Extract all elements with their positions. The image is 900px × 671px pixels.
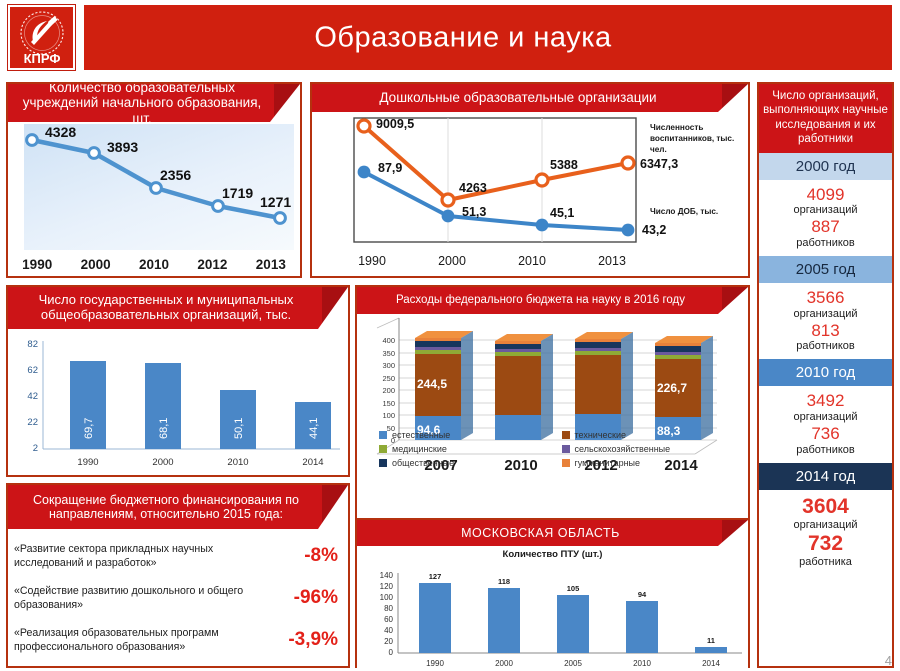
x-tick: 2014 [302,457,323,468]
orgs-count: 3604 [759,495,892,519]
legend-item-medical: медицинские [379,442,562,456]
y-tick: 400 [382,336,395,345]
slide-title-banner: Образование и наука [84,5,892,70]
panel-moscow-region: МОСКОВСКАЯ ОБЛАСТЬ Количество ПТУ (шт.) … [355,518,750,668]
legend-label: естественные [392,430,450,440]
y-tick: 200 [382,386,395,395]
x-tick: 2000 [495,659,513,668]
primary-education-chart: 4328 3893 2356 1719 1271 1990 2000 2010 … [8,122,300,276]
x-tick: 1990 [332,254,412,272]
science-budget-chart: 0 50 100 150 200 250 300 350 400 [357,314,748,474]
preschool-chart: 9009,5 4263 5388 6347,3 87,9 51,3 45,1 4… [312,112,748,276]
y-tick: 0 [389,648,394,657]
seg-medical [655,355,701,359]
workers-count: 813 [759,321,892,341]
year-stats: 3604 организаций 732 работника [759,490,892,576]
stack-side-face [621,332,633,440]
plot-frame [354,118,636,242]
bar-value-labels: 69,7 68,1 50,1 44,1 [83,418,320,439]
annotation-pupils: Численность воспитанников, тыс. чел. [650,122,745,155]
year-block-2014: 2014 год 3604 организаций 732 работника [759,463,892,576]
data-label: 94 [638,590,647,599]
legend-swatch-icon [562,459,570,467]
stack-side-face [541,334,553,440]
list-item: «Реализация образовательных программ про… [14,619,344,661]
bar [626,601,658,653]
seg-social [415,341,461,347]
seg-medical [495,352,541,356]
y-tick: 300 [382,361,395,370]
orgs-label: организаций [759,308,892,321]
panel-preschool-title: Дошкольные образовательные организации [369,90,690,106]
science-budget-legend: естественные технические медицинские сел… [379,428,744,472]
x-tick: 2010 [633,659,651,668]
year-block-2010: 2010 год 3492 организаций 736 работников [759,359,892,462]
workers-label: работника [759,556,892,569]
legend-label: медицинские [392,444,447,454]
seg-social [575,342,621,348]
y-tick: 62 [27,365,38,376]
data-label: 43,2 [642,223,666,237]
data-label: 1719 [222,185,253,201]
panel-general-title: Число государственных и муниципальных об… [8,293,348,323]
workers-label: работников [759,340,892,353]
panel-moscow-title: МОСКОВСКАЯ ОБЛАСТЬ [451,526,654,540]
legend-item-technical: технические [562,428,745,442]
panel-primary-title: Количество образовательных учреждений на… [8,84,300,122]
legend-swatch-icon [379,459,387,467]
panel-science-banner: Расходы федерального бюджета на науку в … [357,287,748,314]
legend-swatch-icon [562,445,570,453]
year-stats: 3566 организаций 813 работников [759,283,892,359]
data-label: 4328 [45,124,76,140]
y-tick: 20 [384,637,393,646]
seg-humanities [655,343,701,346]
legend-swatch-icon [379,445,387,453]
moscow-ptu-chart: 0 20 40 60 80 100 120 140 [357,561,748,671]
data-label: 87,9 [378,161,402,175]
seg-medical [415,350,461,354]
data-label: 9009,5 [376,117,414,131]
seg-agri [415,347,461,350]
bar [557,595,589,653]
seg-agri [655,352,701,355]
sidebar-research-orgs: Число организаций, выполняющих научные и… [757,82,894,668]
bar [695,647,727,653]
x-axis-ticks: 1990 2000 2010 2014 [77,457,323,468]
y-tick: 22 [27,417,38,428]
legend-item-natural: естественные [379,428,562,442]
workers-label: работников [759,237,892,250]
y-tick: 150 [382,399,395,408]
orgs-label: организаций [759,411,892,424]
list-item: «Содействие развитию дошкольного и общег… [14,577,344,619]
orgs-count: 3566 [759,288,892,308]
panel-general-education: Число государственных и муниципальных об… [6,285,350,477]
series-line [32,140,280,218]
y-tick: 250 [382,374,395,383]
seg-humanities [575,339,621,342]
data-label: 44,1 [308,418,320,439]
panel-budget-cuts: Сокращение бюджетного финансирования по … [6,483,350,668]
data-label: 2356 [160,167,191,183]
data-label: 3893 [107,139,138,155]
data-label: 51,3 [462,205,486,219]
year-stats: 3492 организаций 736 работников [759,386,892,462]
data-label: 1271 [260,194,291,210]
x-tick: 1990 [77,457,98,468]
x-tick: 2000 [152,457,173,468]
general-education-chart: 2 22 42 62 82 69,7 68,1 50,1 [8,329,348,475]
bars [70,361,331,449]
x-tick: 2010 [492,254,572,272]
header-bar: КПРФ Образование и наука [0,0,900,74]
y-tick: 140 [380,571,394,580]
workers-count: 732 [759,532,892,556]
orgs-label: организаций [759,204,892,217]
y-tick: 2 [33,443,38,454]
y-tick: 350 [382,349,395,358]
seg-humanities [415,338,461,341]
legend-label: общественные [392,458,454,468]
seg-social [495,344,541,349]
bars [419,583,727,653]
legend-item-social: общественные [379,456,562,470]
y-tick: 40 [384,626,393,635]
seg-social [655,346,701,352]
primary-education-line-svg: 4328 3893 2356 1719 1271 [8,122,300,250]
data-label: 105 [567,584,580,593]
y-axis-ticks: 0 20 40 60 80 100 120 140 [380,571,394,657]
orgs-label: организаций [759,519,892,532]
year-block-2000: 2000 год 4099 организаций 887 работников [759,153,892,256]
data-label: 69,7 [83,418,95,439]
legend-swatch-icon [379,431,387,439]
list-item: «Развитие сектора прикладных научных исс… [14,535,344,577]
panel-primary-education: Количество образовательных учреждений на… [6,82,302,278]
panel-moscow-banner: МОСКОВСКАЯ ОБЛАСТЬ [357,520,748,546]
legend-label: гумманитарные [575,458,641,468]
panel-primary-banner: Количество образовательных учреждений на… [8,84,300,122]
workers-count: 887 [759,217,892,237]
data-label: 5388 [550,158,578,172]
y-tick: 42 [27,391,38,402]
y-tick: 120 [380,582,394,591]
y-tick: 100 [380,593,394,602]
x-tick: 2005 [564,659,582,668]
stack-2012 [575,332,633,440]
x-tick: 2010 [125,257,183,272]
x-tick: 2012 [183,257,241,272]
stack-side-face [461,331,473,440]
bar [419,583,451,653]
bar [488,588,520,653]
kprf-logo: КПРФ [8,5,75,70]
x-tick: 2014 [702,659,720,668]
stack-side-face [701,336,713,440]
orgs-count: 4099 [759,185,892,205]
data-label: 4263 [459,181,487,195]
data-label: 127 [429,572,442,581]
panel-science-budget: Расходы федерального бюджета на науку в … [355,285,750,520]
cut-percent-value: -96% [270,587,344,609]
page-title: Образование и наука [84,21,892,54]
data-label: 244,5 [417,377,447,391]
cut-percent-value: -3,9% [270,629,344,651]
year-stats: 4099 организаций 887 работников [759,180,892,256]
slide-root: КПРФ Образование и наука Количество обра… [0,0,900,671]
data-label: 118 [498,577,510,586]
year-label: 2010 год [759,359,892,386]
x-tick: 1990 [8,257,66,272]
workers-count: 736 [759,424,892,444]
y-tick: 82 [27,339,38,350]
legend-item-humanities: гумманитарные [562,456,745,470]
data-label: 68,1 [158,418,170,439]
data-label: 6347,3 [640,157,678,171]
data-label: 226,7 [657,381,687,395]
series-data-labels: 4328 3893 2356 1719 1271 [45,124,291,210]
year-label: 2014 год [759,463,892,490]
x-tick: 1990 [426,659,444,668]
moscow-chart-subtitle: Количество ПТУ (шт.) [357,546,748,561]
x-tick: 2013 [572,254,652,272]
stack-2010 [495,334,553,440]
legend-label: технические [575,430,627,440]
y-tick: 100 [382,411,395,420]
y-tick: 60 [384,615,393,624]
seg-technical [575,355,621,414]
preschool-x-axis: 1990 2000 2010 2013 [332,254,652,272]
cut-program-label: «Содействие развитию дошкольного и общег… [14,584,270,613]
budget-cuts-list: «Развитие сектора прикладных научных исс… [8,529,348,663]
seg-agri [575,348,621,351]
page-number: 4 [885,653,892,668]
data-label: 45,1 [550,206,574,220]
legend-swatch-icon [562,431,570,439]
x-tick: 2013 [242,257,300,272]
data-label: 50,1 [233,418,245,439]
panel-preschool: Дошкольные образовательные организации [310,82,750,278]
year-label: 2000 год [759,153,892,180]
moscow-ptu-bar-svg: 0 20 40 60 80 100 120 140 [357,561,748,671]
seg-agri [495,349,541,352]
workers-label: работников [759,444,892,457]
cut-percent-value: -8% [270,545,344,567]
logo-text: КПРФ [23,51,60,66]
panel-cuts-title: Сокращение бюджетного финансирования по … [8,493,348,522]
seg-humanities [495,341,541,344]
panel-preschool-banner: Дошкольные образовательные организации [312,84,748,112]
x-axis-ticks: 1990 2000 2005 2010 2014 [426,659,720,668]
x-tick: 2000 [66,257,124,272]
hammer-sickle-icon: КПРФ [11,8,73,68]
y-axis-ticks: 2 22 42 62 82 [27,339,38,454]
legend-label: сельскохозяйственные [575,444,671,454]
y-tick: 80 [384,604,393,613]
seg-medical [575,351,621,355]
legend-item-agricultural: сельскохозяйственные [562,442,745,456]
x-tick: 2000 [412,254,492,272]
cut-program-label: «Развитие сектора прикладных научных исс… [14,542,270,571]
year-block-2005: 2005 год 3566 организаций 813 работников [759,256,892,359]
year-label: 2005 год [759,256,892,283]
panel-science-title: Расходы федерального бюджета на науку в … [386,294,719,307]
sidebar-header: Число организаций, выполняющих научные и… [759,84,892,153]
orgs-count: 3492 [759,391,892,411]
general-education-bar-svg: 2 22 42 62 82 69,7 68,1 50,1 [8,329,348,475]
x-tick: 2010 [227,457,248,468]
panel-cuts-banner: Сокращение бюджетного финансирования по … [8,485,348,529]
seg-technical [495,356,541,415]
primary-x-axis: 1990 2000 2010 2012 2013 [8,254,300,274]
annotation-dob: Число ДОБ, тыс. [650,206,745,217]
panel-general-banner: Число государственных и муниципальных об… [8,287,348,329]
data-label: 11 [707,636,715,645]
cut-program-label: «Реализация образовательных программ про… [14,626,270,655]
